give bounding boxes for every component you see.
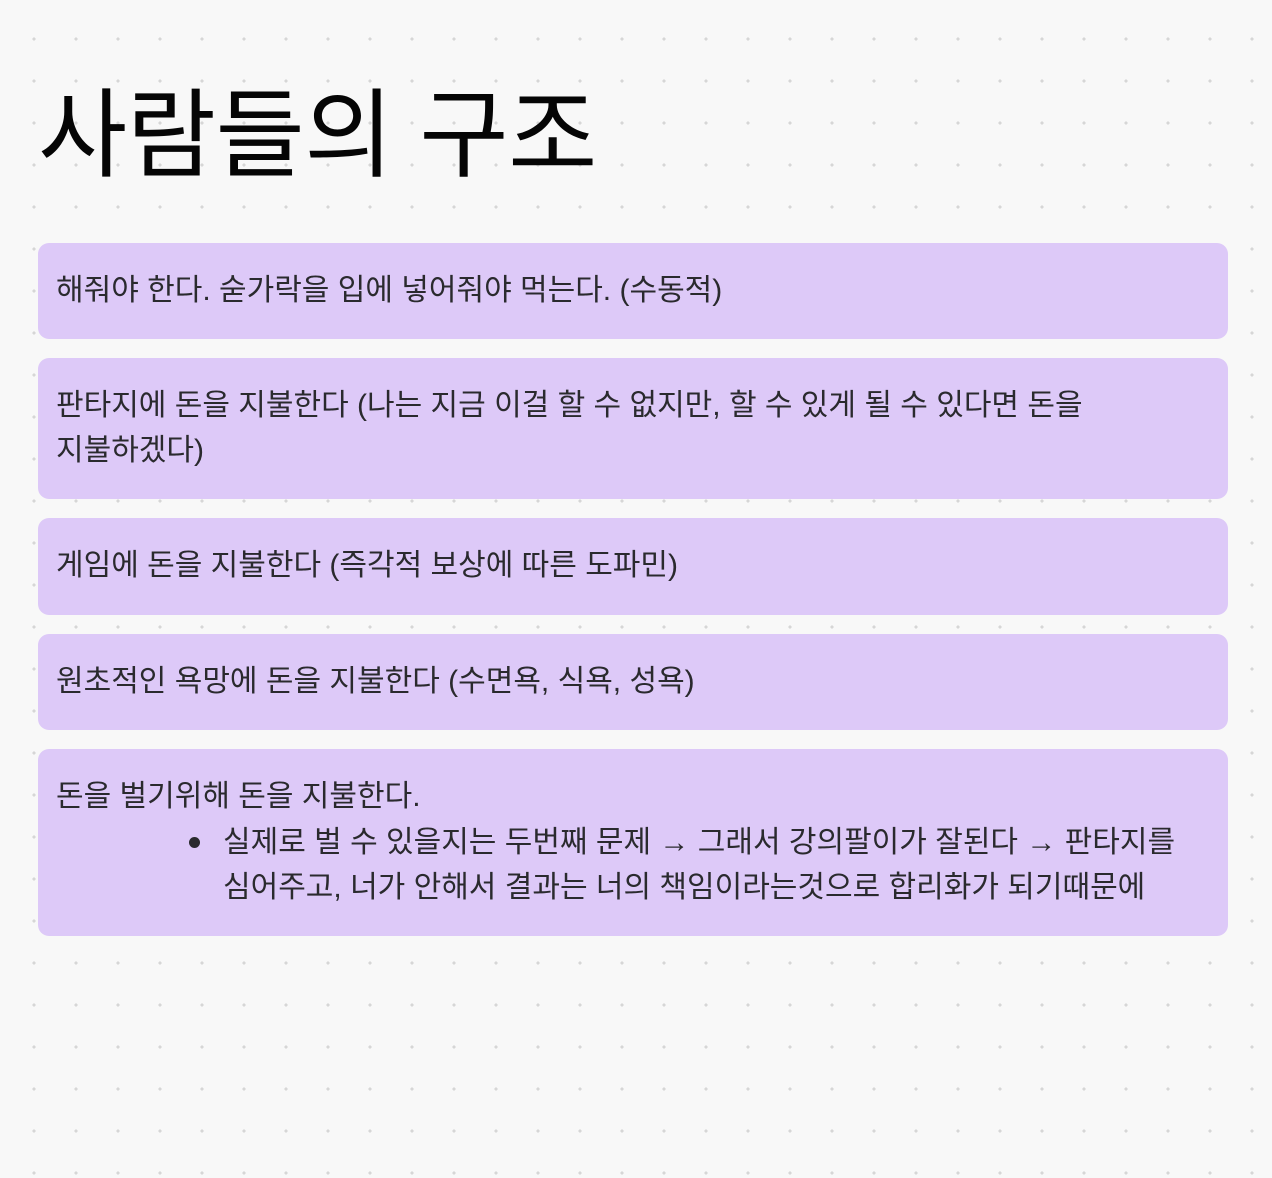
bullet-list-item: 실제로 벌 수 있을지는 두번째 문제 → 그래서 강의팔이가 잘된다 → 판타…: [56, 821, 1198, 910]
card-text: 원초적인 욕망에 돈을 지불한다 (수면욕, 식욕, 성욕): [56, 660, 1198, 704]
bullet-item-label: 실제로 벌 수 있을지는 두번째 문제 → 그래서 강의팔이가 잘된다 → 판타…: [223, 826, 1175, 903]
card-text: 판타지에 돈을 지불한다 (나는 지금 이걸 할 수 없지만, 할 수 있게 될…: [56, 384, 1198, 473]
list-item[interactable]: 판타지에 돈을 지불한다 (나는 지금 이걸 할 수 없지만, 할 수 있게 될…: [38, 358, 1228, 499]
card-lead-text: 돈을 벌기위해 돈을 지불한다.: [56, 775, 1198, 819]
card-list: 해줘야 한다. 숟가락을 입에 넣어줘야 먹는다. (수동적) 판타지에 돈을 …: [38, 243, 1228, 936]
list-item[interactable]: 해줘야 한다. 숟가락을 입에 넣어줘야 먹는다. (수동적): [38, 243, 1228, 339]
list-item[interactable]: 게임에 돈을 지불한다 (즉각적 보상에 따른 도파민): [38, 518, 1228, 614]
list-item[interactable]: 돈을 벌기위해 돈을 지불한다. 실제로 벌 수 있을지는 두번째 문제 → 그…: [38, 749, 1228, 936]
card-text: 게임에 돈을 지불한다 (즉각적 보상에 따른 도파민): [56, 544, 1198, 588]
page-title: 사람들의 구조: [38, 79, 597, 193]
bullet-list: 실제로 벌 수 있을지는 두번째 문제 → 그래서 강의팔이가 잘된다 → 판타…: [56, 821, 1198, 910]
card-text: 해줘야 한다. 숟가락을 입에 넣어줘야 먹는다. (수동적): [56, 269, 1198, 313]
page-root: 사람들의 구조 해줘야 한다. 숟가락을 입에 넣어줘야 먹는다. (수동적) …: [0, 0, 1272, 1178]
list-item[interactable]: 원초적인 욕망에 돈을 지불한다 (수면욕, 식욕, 성욕): [38, 634, 1228, 730]
bullet-point-icon: [189, 837, 200, 848]
